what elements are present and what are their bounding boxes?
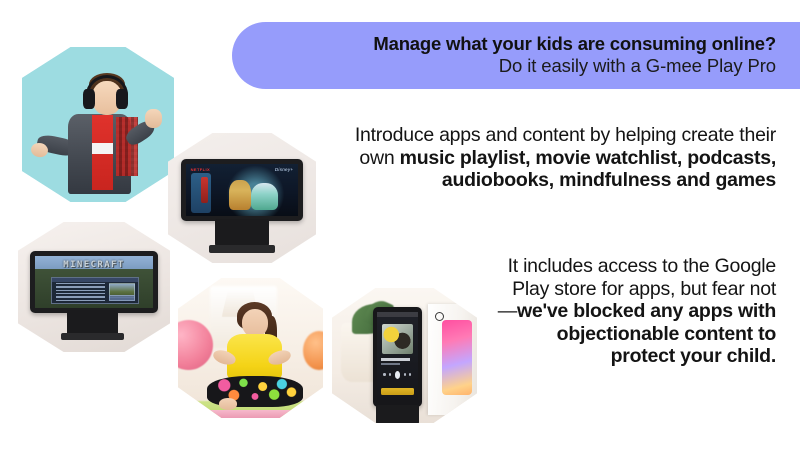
photo-player-music xyxy=(332,288,477,423)
minecraft-dialog-button xyxy=(109,295,135,301)
photo-girl-yoga xyxy=(178,278,323,418)
boy-right-hand xyxy=(145,109,162,128)
player-stand xyxy=(376,405,420,423)
header-headline: Manage what your kids are consuming onli… xyxy=(373,33,776,54)
boy-plaid-panel xyxy=(116,117,137,176)
minecraft-scene: MINECRAFT xyxy=(35,256,152,308)
status-bar xyxy=(377,312,418,317)
header-subheadline: Do it easily with a G-mee Play Pro xyxy=(499,54,776,78)
player-screen xyxy=(377,312,418,400)
tablet-device: MINECRAFT xyxy=(30,251,158,313)
brand-logo-icon xyxy=(435,312,444,321)
body-paragraph-2: It includes access to the Google Play st… xyxy=(496,255,776,368)
minecraft-logo: MINECRAFT xyxy=(63,260,124,270)
girl-foot xyxy=(219,398,238,409)
track-artist xyxy=(381,363,400,365)
movie-red-object xyxy=(201,177,209,203)
track-title xyxy=(381,358,410,361)
forward-icon xyxy=(404,373,406,376)
tablet-screen: NETFLIX Disney+ xyxy=(186,164,298,216)
photo-tablet-minecraft: MINECRAFT xyxy=(18,222,170,352)
tablet-screen: MINECRAFT xyxy=(35,256,152,308)
boy-shirt-stripe xyxy=(92,143,113,154)
headphone-cup-left xyxy=(83,89,95,109)
movie-character-spaceman xyxy=(251,183,278,210)
disney-plus-badge: Disney+ xyxy=(275,167,293,172)
box-artwork xyxy=(442,320,473,395)
minecraft-dialog-panel xyxy=(51,277,140,304)
retail-box xyxy=(428,304,477,415)
photo-tablet-movie: NETFLIX Disney+ xyxy=(168,133,316,263)
girl-head xyxy=(242,309,268,337)
paragraph-2-bold: we've blocked any apps with objectionabl… xyxy=(517,300,776,367)
netflix-badge: NETFLIX xyxy=(191,167,210,172)
player-cta-bar xyxy=(381,388,414,394)
tablet-stand xyxy=(215,219,268,248)
headphone-cup-right xyxy=(116,89,128,109)
tablet-device: NETFLIX Disney+ xyxy=(181,159,302,221)
body-paragraph-1: Introduce apps and content by helping cr… xyxy=(346,124,776,192)
movie-scene: NETFLIX Disney+ xyxy=(186,164,298,216)
yoga-mat-pink xyxy=(204,410,291,418)
player-device xyxy=(373,307,422,407)
minecraft-dialog-text xyxy=(56,283,105,301)
album-art xyxy=(382,324,413,354)
paragraph-1-bold: music playlist, movie watchlist, podcast… xyxy=(400,147,776,192)
movie-character-cowboy xyxy=(229,180,251,210)
header-banner: Manage what your kids are consuming onli… xyxy=(232,22,800,89)
minecraft-dialog-title xyxy=(52,278,139,282)
playback-controls xyxy=(381,370,414,381)
previous-track-icon xyxy=(383,373,385,376)
tablet-stand-base xyxy=(61,333,125,341)
next-track-icon xyxy=(409,373,411,376)
photo-boy-headphones xyxy=(22,47,174,202)
tablet-stand-base xyxy=(209,245,274,253)
play-pause-icon xyxy=(395,371,400,379)
boy-figure xyxy=(22,47,174,202)
rewind-icon xyxy=(389,373,391,376)
